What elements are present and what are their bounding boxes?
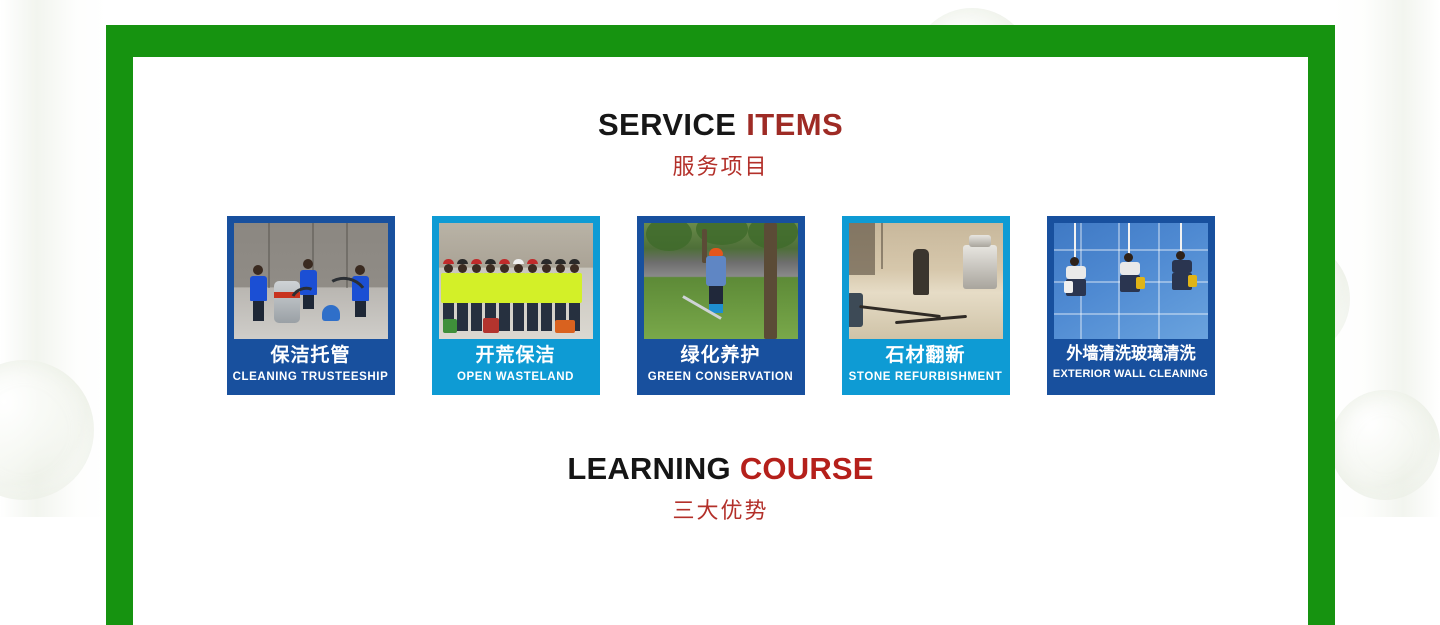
service-card-exterior-wall-cleaning[interactable]: 外墙清洗玻璃清洗 EXTERIOR WALL CLEANING [1047, 216, 1215, 395]
service-card-name-en: GREEN CONSERVATION [639, 369, 803, 386]
service-section-header: SERVICEITEMS 服务项目 [133, 57, 1308, 178]
service-title-cn: 服务项目 [133, 156, 1308, 178]
service-card-list: 保洁托管 CLEANING TRUSTEESHIP [133, 216, 1308, 395]
learning-title-cn: 三大优势 [133, 500, 1308, 522]
service-card-caption: 外墙清洗玻璃清洗 EXTERIOR WALL CLEANING [1047, 339, 1215, 391]
bubble-decoration [1330, 390, 1440, 500]
service-card-name-en: STONE REFURBISHMENT [844, 369, 1008, 386]
service-card-name-cn: 石材翻新 [844, 343, 1008, 369]
service-card-name-cn: 保洁托管 [229, 343, 393, 369]
service-card-name-cn: 外墙清洗玻璃清洗 [1053, 343, 1209, 366]
right-sheen [1332, 0, 1440, 517]
service-card-photo [849, 223, 1003, 339]
learning-title-en-red: COURSE [740, 451, 874, 486]
learning-section-header: LEARNINGCOURSE 三大优势 [133, 453, 1308, 522]
service-card-stone-refurbishment[interactable]: 石材翻新 STONE REFURBISHMENT [842, 216, 1010, 395]
service-card-caption: 绿化养护 GREEN CONSERVATION [637, 339, 805, 395]
service-card-photo [644, 223, 798, 339]
bubble-decoration [0, 360, 94, 500]
service-title-en-dark: SERVICE [598, 107, 736, 142]
service-card-photo [1054, 223, 1208, 339]
service-card-name-en: OPEN WASTELAND [434, 369, 598, 386]
service-card-caption: 石材翻新 STONE REFURBISHMENT [842, 339, 1010, 395]
learning-title-en-dark: LEARNING [567, 451, 731, 486]
service-card-photo [234, 223, 388, 339]
service-card-photo [439, 223, 593, 339]
service-card-caption: 保洁托管 CLEANING TRUSTEESHIP [227, 339, 395, 395]
service-card-green-conservation[interactable]: 绿化养护 GREEN CONSERVATION [637, 216, 805, 395]
service-card-name-cn: 开荒保洁 [434, 343, 598, 369]
service-card-name-en: EXTERIOR WALL CLEANING [1049, 366, 1213, 383]
service-card-open-wasteland[interactable]: 开荒保洁 OPEN WASTELAND [432, 216, 600, 395]
service-card-cleaning-trusteeship[interactable]: 保洁托管 CLEANING TRUSTEESHIP [227, 216, 395, 395]
service-card-caption: 开荒保洁 OPEN WASTELAND [432, 339, 600, 395]
service-card-name-cn: 绿化养护 [639, 343, 803, 369]
learning-title-en: LEARNINGCOURSE [133, 453, 1308, 484]
green-border-frame: SERVICEITEMS 服务项目 [106, 25, 1335, 625]
service-title-en-red: ITEMS [746, 107, 843, 142]
left-sheen [0, 0, 108, 517]
service-card-name-en: CLEANING TRUSTEESHIP [229, 369, 393, 386]
service-title-en: SERVICEITEMS [133, 57, 1308, 140]
content-panel: SERVICEITEMS 服务项目 [133, 57, 1308, 625]
